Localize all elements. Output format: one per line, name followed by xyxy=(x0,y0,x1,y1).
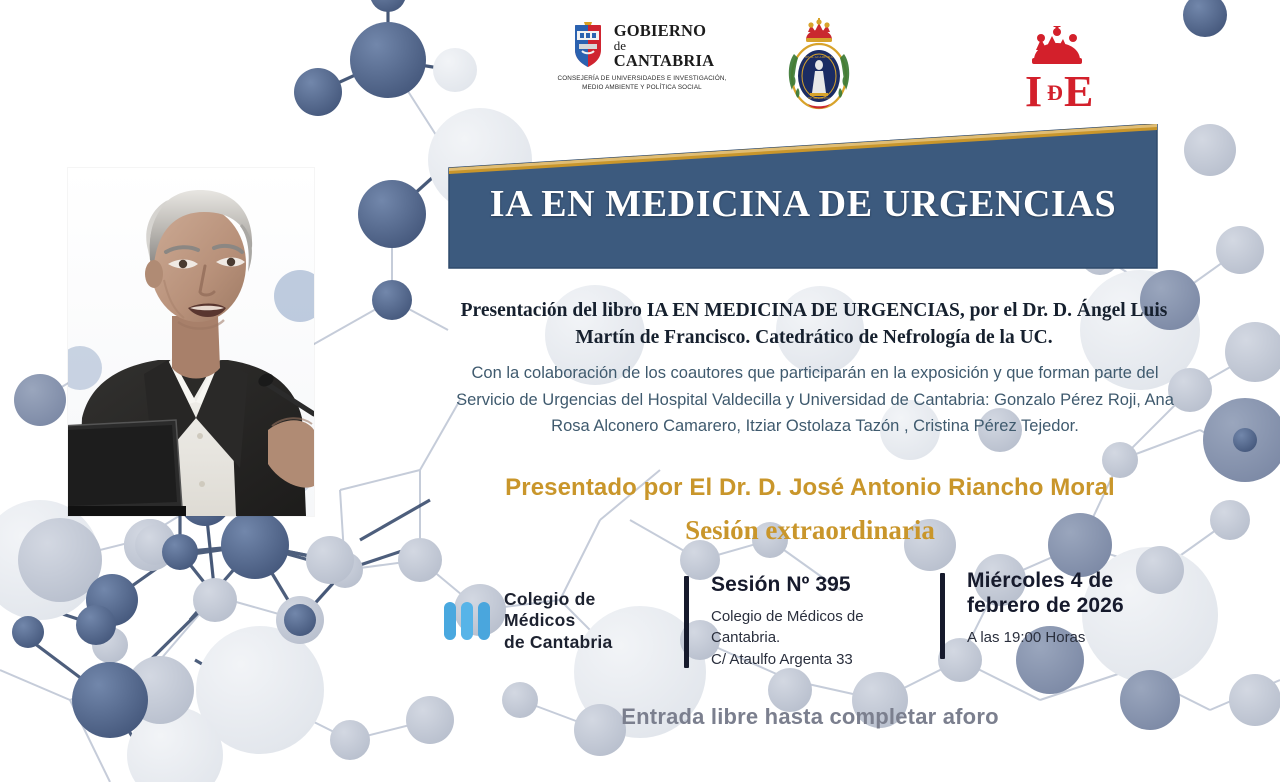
speaker-video-feed[interactable] xyxy=(68,168,314,516)
date-heading-line-1: Miércoles 4 de xyxy=(967,568,1187,593)
session-kind-line: Sesión extraordinaria xyxy=(440,515,1180,546)
three-bars-icon xyxy=(444,602,490,640)
gobierno-line-1: GOBIERNO xyxy=(614,23,715,40)
svg-text:REAL ACADEMIA: REAL ACADEMIA xyxy=(805,55,833,59)
session-column: Sesión Nº 395 Colegio de Médicos de Cant… xyxy=(711,572,911,670)
date-column: Miércoles 4 de febrero de 2026 A las 19:… xyxy=(967,568,1187,649)
crowned-ide-monogram-icon: I E Ð xyxy=(1012,26,1102,114)
date-heading-line-2: febrero de 2026 xyxy=(967,593,1187,618)
session-venue: Colegio de Médicos de Cantabria. C/ Atau… xyxy=(711,606,911,670)
divider-date xyxy=(940,573,945,659)
organization-name: Colegio de Médicos de Cantabria xyxy=(504,589,664,653)
organization-name-line-2: de Cantabria xyxy=(504,632,664,653)
date-heading: Miércoles 4 de febrero de 2026 xyxy=(967,568,1187,618)
title-banner: IA EN MEDICINA DE URGENCIAS xyxy=(447,124,1159,270)
royal-academy-crest-icon: REAL ACADEMIA DE MEDICINA xyxy=(780,18,858,118)
gobierno-line-3: CANTABRIA xyxy=(614,53,715,70)
venue-line-2: Cantabria. xyxy=(711,627,911,648)
presenter-line: Presentado por El Dr. D. José Antonio Ri… xyxy=(440,474,1180,502)
gobierno-subtitle-line-2: MEDIO AMBIENTE Y POLÍTICA SOCIAL xyxy=(558,83,727,92)
lead-paragraph: Presentación del libro IA EN MEDICINA DE… xyxy=(440,298,1188,352)
organization-name-line-1: Colegio de Médicos xyxy=(504,589,664,632)
venue-line-3: C/ Ataulfo Argenta 33 xyxy=(711,649,911,670)
divider-session xyxy=(684,576,689,668)
video-frame xyxy=(68,168,314,516)
svg-text:DE MEDICINA: DE MEDICINA xyxy=(808,96,831,100)
session-heading: Sesión Nº 395 xyxy=(711,572,911,597)
colegio-de-medicos-logo: Colegio de Médicos de Cantabria xyxy=(444,592,664,650)
gobierno-subtitle-line-1: CONSEJERÍA DE UNIVERSIDADES E INVESTIGAC… xyxy=(558,74,727,83)
real-academia-crest-logo: REAL ACADEMIA DE MEDICINA xyxy=(780,18,858,118)
svg-text:Ð: Ð xyxy=(1047,80,1063,105)
svg-text:I: I xyxy=(1025,67,1042,114)
collaboration-paragraph: Con la colaboración de los coautores que… xyxy=(450,360,1180,440)
free-entry-note: Entrada libre hasta completar aforo xyxy=(440,704,1180,730)
event-time: A las 19:00 Horas xyxy=(967,627,1187,648)
logo-row: GOBIERNO de CANTABRIA CONSEJERÍA DE UNIV… xyxy=(0,0,1280,125)
ide-monogram-logo: I E Ð xyxy=(1012,26,1102,114)
slide-canvas: GOBIERNO de CANTABRIA CONSEJERÍA DE UNIV… xyxy=(0,0,1280,782)
page-title: IA EN MEDICINA DE URGENCIAS xyxy=(447,182,1159,226)
svg-text:E: E xyxy=(1064,67,1093,114)
venue-line-1: Colegio de Médicos de xyxy=(711,606,911,627)
cantabria-coat-of-arms-icon xyxy=(570,22,606,70)
gobierno-de-cantabria-logo: GOBIERNO de CANTABRIA CONSEJERÍA DE UNIV… xyxy=(542,22,742,117)
